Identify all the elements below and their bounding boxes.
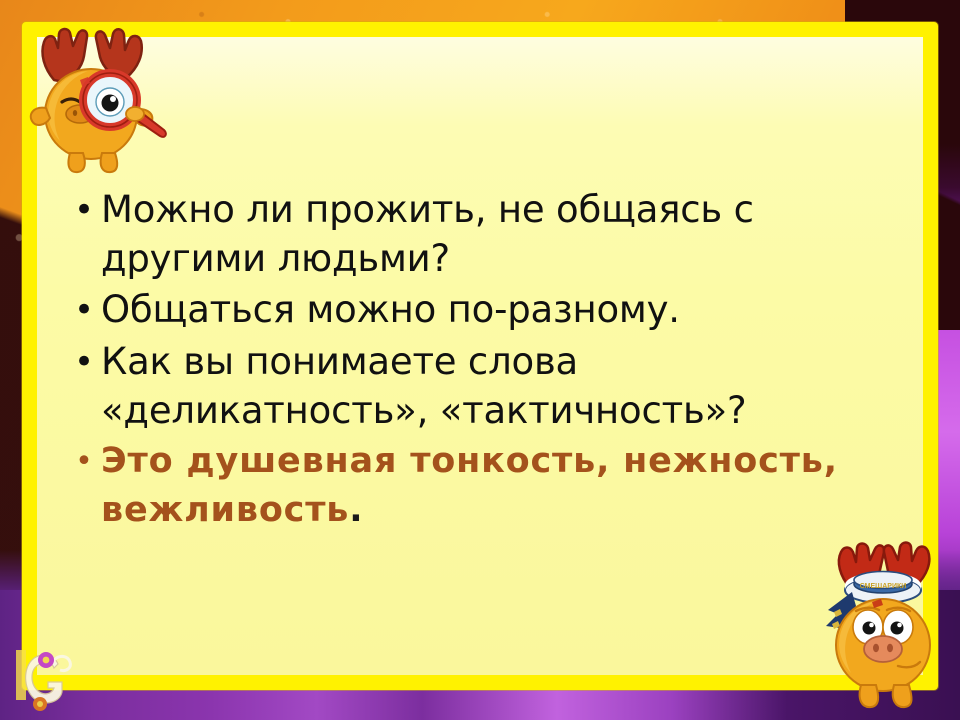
bullet-text-4-period: .: [349, 490, 362, 530]
bullet-text-1: Можно ли прожить, не общаясь с другими л…: [101, 185, 857, 283]
list-item: • Общаться можно по-разному.: [67, 285, 857, 335]
bullet-point-icon: •: [67, 285, 101, 335]
bullet-point-icon: •: [67, 437, 101, 487]
presentation-slide: • Можно ли прожить, не общаясь с другими…: [0, 0, 960, 720]
bullet-point-icon: •: [67, 337, 101, 387]
moose-with-magnifying-glass-icon: [18, 10, 178, 180]
bullet-point-icon: •: [67, 185, 101, 235]
hat-band-text: СМЕШАРИКИ: [860, 583, 907, 590]
list-item: • Как вы понимаете слова «деликатность»,…: [67, 337, 857, 435]
bullet-text-2: Общаться можно по-разному.: [101, 285, 857, 334]
moose-with-sailor-hat-icon: СМЕШАРИКИ: [806, 540, 960, 720]
bullet-text-3: Как вы понимаете слова «деликатность», «…: [101, 337, 857, 435]
decorative-letter-g-watermark: [2, 642, 88, 714]
bullet-text-4-body: Это душевная тонкость, нежность, вежливо…: [101, 441, 838, 530]
list-item: • Можно ли прожить, не общаясь с другими…: [67, 185, 857, 283]
bullet-list: • Можно ли прожить, не общаясь с другими…: [67, 185, 857, 537]
list-item: • Это душевная тонкость, нежность, вежли…: [67, 437, 857, 535]
bullet-text-4: Это душевная тонкость, нежность, вежливо…: [101, 437, 857, 535]
